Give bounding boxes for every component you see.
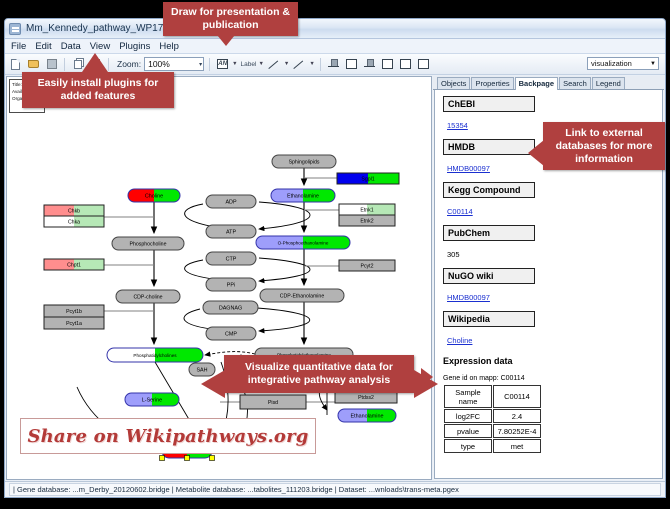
node-label: Etnk1	[360, 208, 373, 214]
metabolite-node-choline-top[interactable]: Choline	[128, 189, 180, 202]
row-value: C00114	[493, 385, 541, 408]
callout-visualize-arrow-left-icon	[201, 370, 225, 398]
zoom-combo[interactable]: 100% ▾	[144, 57, 204, 71]
table-row: Sample name C00114	[444, 385, 541, 408]
callout-link-arrow-icon	[528, 140, 544, 166]
callout-plugins: Easily install plugins for added feature…	[22, 72, 174, 108]
table-row: log2FC 2.4	[444, 409, 541, 423]
metabolite-node-l-serine-left[interactable]: L-Serine	[125, 393, 179, 406]
distribute-horizontal-icon[interactable]	[380, 57, 395, 72]
metabolite-node-phosphatidylcholines[interactable]: Phosphatidylcholines	[107, 348, 203, 362]
toolbar-separator-1	[64, 58, 65, 71]
node-label: Chka	[68, 220, 80, 226]
new-file-icon[interactable]	[8, 57, 23, 72]
toolbar-separator-3	[209, 58, 210, 71]
node-label: Phosphatidylcholines	[133, 353, 177, 358]
status-text: | Gene database: ...m_Derby_20120602.bri…	[9, 483, 661, 496]
group-icon[interactable]	[398, 57, 413, 72]
side-panel-tabs: Objects Properties Backpage Search Legen…	[433, 76, 664, 90]
node-label: CDP-Ethanolamine	[280, 294, 325, 300]
row-key: log2FC	[444, 409, 492, 423]
row-value: 2.4	[493, 409, 541, 423]
node-label: L-Serine	[142, 398, 162, 404]
data-node-dropdown-icon[interactable]: ▼	[232, 61, 237, 67]
zoom-label: Zoom:	[117, 59, 141, 69]
label-tool-label[interactable]: Label	[241, 61, 257, 68]
menu-item-view[interactable]: View	[90, 41, 110, 52]
db-link-hmdb[interactable]: HMDB00097	[447, 164, 490, 173]
callout-draw-arrow-icon	[213, 30, 239, 46]
table-row: type met	[444, 439, 541, 453]
gene-node-chpt1[interactable]: Chpt1	[44, 259, 104, 270]
selection-handle[interactable]	[185, 456, 190, 461]
line-dropdown-icon[interactable]: ▼	[284, 61, 289, 67]
selection-handle[interactable]	[210, 456, 215, 461]
gene-node-pcyt1b[interactable]: Pcyt1b	[44, 305, 104, 317]
tab-search[interactable]: Search	[559, 77, 591, 90]
node-label: PPi	[227, 283, 235, 289]
db-link-nugo-wiki[interactable]: HMDB00097	[447, 293, 490, 302]
node-label: Chpt1	[67, 263, 81, 269]
gene-node-ptdss2[interactable]: Ptdss2	[335, 391, 397, 403]
metabolite-node-ethanolamine-top[interactable]: Ethanolamine	[271, 189, 335, 202]
callout-link: Link to external databases for more info…	[543, 122, 665, 170]
gene-node-pcyt2[interactable]: Pcyt2	[339, 260, 395, 271]
line-tool-icon[interactable]	[267, 57, 282, 72]
anchor-tool-icon[interactable]	[292, 57, 307, 72]
db-link-wikipedia[interactable]: Choline	[447, 336, 472, 345]
callout-visualize: Visualize quantitative data for integrat…	[224, 355, 414, 393]
row-key: pvalue	[444, 424, 492, 438]
node-label: Ethanolamine	[351, 414, 384, 420]
menu-item-edit[interactable]: Edit	[35, 41, 51, 52]
node-label: ATP	[226, 230, 236, 236]
db-header-pubchem: PubChem	[443, 225, 535, 241]
toolbar-separator-2	[108, 58, 109, 71]
menu-bar: File Edit Data View Plugins Help	[5, 39, 665, 54]
node-label: DAGNAG	[219, 306, 242, 312]
align-top-icon[interactable]	[326, 57, 341, 72]
menu-item-file[interactable]: File	[11, 41, 26, 52]
distribute-vertical-icon[interactable]	[362, 57, 377, 72]
node-label: Chkb	[68, 209, 80, 215]
db-link-chebi[interactable]: 15354	[447, 121, 468, 130]
visualization-value: visualization	[591, 59, 632, 68]
node-label: Pisd	[268, 400, 278, 406]
node-label: Choline	[145, 194, 163, 200]
db-link-kegg-compound[interactable]: C00114	[447, 207, 473, 216]
metabolite-node-phosphocholine[interactable]: Phosphocholine	[112, 237, 184, 250]
node-label: Phosphocholine	[130, 242, 167, 248]
share-banner: Share on Wikipathways.org	[20, 418, 316, 454]
gene-node-etnk1[interactable]: Etnk1	[339, 204, 395, 215]
metabolite-node-sphingolipids[interactable]: Sphingolipids	[272, 155, 336, 168]
open-folder-icon[interactable]	[26, 57, 41, 72]
row-key: type	[444, 439, 492, 453]
app-icon	[9, 23, 21, 35]
menu-item-data[interactable]: Data	[61, 41, 81, 52]
node-label: ADP	[225, 200, 236, 206]
callout-expression-arrow-icon	[421, 368, 433, 386]
menu-item-plugins[interactable]: Plugins	[119, 41, 150, 52]
node-label: Sphingolipids	[289, 160, 320, 166]
node-label: Ptdss2	[358, 395, 374, 401]
metabolite-node-dagnag[interactable]: DAGNAG	[203, 301, 258, 314]
data-node-icon[interactable]: AN	[215, 57, 230, 72]
save-icon[interactable]	[44, 57, 59, 72]
gene-node-pisd[interactable]: Pisd	[240, 395, 306, 409]
node-label: Etnk2	[360, 219, 373, 225]
callout-plugins-arrow-icon	[82, 53, 108, 72]
share-banner-text: Share on Wikipathways.org	[27, 426, 308, 447]
row-key: Sample name	[444, 385, 492, 408]
node-label: Pcyt1b	[66, 309, 82, 315]
node-label: Sgpl1	[361, 177, 374, 183]
db-value-pubchem: 305	[447, 250, 460, 259]
gene-node-chka[interactable]: Chka	[44, 216, 104, 227]
metabolite-node-ethanolamine-right[interactable]: Ethanolamine	[338, 409, 396, 422]
gene-node-sgpl1[interactable]: Sgpl1	[337, 173, 399, 184]
metabolite-node-o-phosphoethanolamine[interactable]: O-Phosphoethanolamine	[256, 236, 350, 249]
node-label: CDP-choline	[133, 295, 162, 301]
metabolite-node-ppi[interactable]: PPi	[206, 278, 256, 291]
table-row: pvalue 7.80252E-4	[444, 424, 541, 438]
metabolite-node-cdp-choline[interactable]: CDP-choline	[116, 290, 180, 303]
label-dropdown-icon[interactable]: ▼	[258, 61, 263, 67]
align-left-icon[interactable]	[344, 57, 359, 72]
db-header-nugo-wiki: NuGO wiki	[443, 268, 535, 284]
metabolite-node-ctp[interactable]: CTP	[206, 252, 256, 265]
node-label: Pcyt1a	[66, 321, 82, 327]
db-header-chebi: ChEBI	[443, 96, 535, 112]
tab-objects[interactable]: Objects	[437, 77, 470, 90]
row-value: met	[493, 439, 541, 453]
node-label: CMP	[225, 332, 237, 338]
metabolite-node-adp[interactable]: ADP	[206, 195, 256, 208]
visualization-combo[interactable]: visualization ▼	[587, 57, 659, 70]
row-value: 7.80252E-4	[493, 424, 541, 438]
toolbar-separator-4	[320, 58, 321, 71]
tab-backpage[interactable]: Backpage	[515, 77, 558, 91]
metabolite-node-cdp-ethanolamine[interactable]: CDP-Ethanolamine	[260, 289, 344, 302]
node-label: O-Phosphoethanolamine	[278, 241, 329, 246]
metabolite-node-atp[interactable]: ATP	[206, 225, 256, 238]
node-label: CTP	[226, 257, 237, 263]
gene-node-chkb[interactable]: Chkb	[44, 205, 104, 216]
node-label: Ethanolamine	[287, 194, 319, 200]
tab-legend[interactable]: Legend	[592, 77, 625, 90]
chevron-down-icon: ▾	[199, 61, 202, 68]
db-header-wikipedia: Wikipedia	[443, 311, 535, 327]
status-bar: | Gene database: ...m_Derby_20120602.bri…	[5, 481, 665, 497]
gene-node-etnk2[interactable]: Etnk2	[339, 215, 395, 226]
metabolite-node-cmp[interactable]: CMP	[206, 327, 256, 340]
chevron-down-icon: ▼	[650, 61, 656, 67]
db-header-hmdb: HMDB	[443, 139, 535, 155]
expression-data-title: Expression data	[443, 356, 662, 366]
menu-item-help[interactable]: Help	[159, 41, 179, 52]
gene-node-pcyt1a[interactable]: Pcyt1a	[44, 317, 104, 329]
node-label: Pcyt2	[361, 264, 374, 270]
expression-data-table: Sample name C00114 log2FC 2.4 pvalue 7.8…	[443, 384, 542, 454]
selection-handle[interactable]	[160, 456, 165, 461]
anchor-dropdown-icon[interactable]: ▼	[309, 61, 314, 67]
gene-id-line: Gene id on mapp: C00114	[443, 375, 662, 382]
ungroup-icon[interactable]	[416, 57, 431, 72]
tab-properties[interactable]: Properties	[471, 77, 513, 90]
zoom-value: 100%	[148, 59, 170, 69]
db-header-kegg-compound: Kegg Compound	[443, 182, 535, 198]
title-bar: Mm_Kennedy_pathway_WP1771_45176.gpml	[5, 19, 665, 39]
